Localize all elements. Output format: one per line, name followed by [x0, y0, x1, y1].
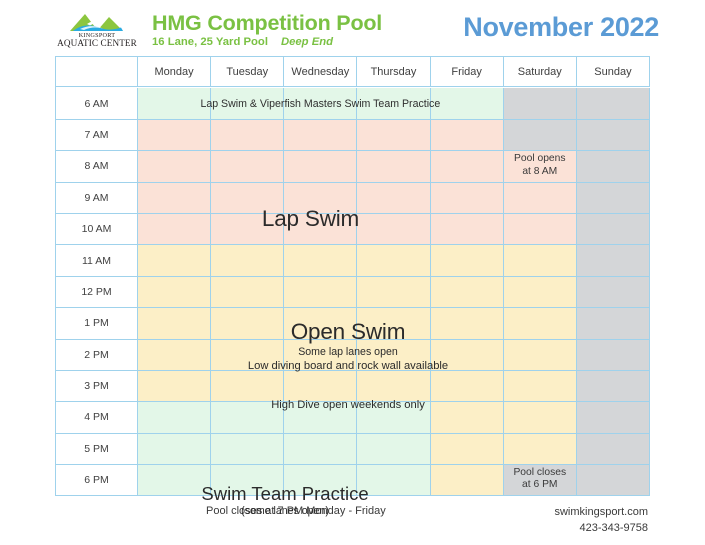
pool-spec-label: 16 Lane, 25 Yard Pool: [152, 36, 268, 48]
slot-wednesday-11am[interactable]: [284, 245, 357, 276]
slot-friday-2pm[interactable]: [431, 340, 504, 371]
slot-thursday-12pm[interactable]: [357, 277, 430, 308]
slot-tuesday-8am[interactable]: [211, 151, 284, 182]
slot-sunday-9am[interactable]: [577, 183, 650, 214]
slot-sunday-7am[interactable]: [577, 120, 650, 151]
early-lap-swim-title: Lap Swim & Viperfish Masters Swim Team P…: [200, 98, 440, 110]
slot-wednesday-6am[interactable]: Lap Swim & Viperfish Masters Swim Team P…: [284, 88, 357, 119]
time-label-12-pm: 12 PM: [56, 277, 138, 308]
brand-logo: KINGSPORT AQUATIC CENTER: [56, 11, 138, 49]
slot-tuesday-10am[interactable]: [211, 214, 284, 245]
time-label-9-am: 9 AM: [56, 183, 138, 214]
footer-website[interactable]: swimkingsport.com: [554, 505, 648, 521]
slot-wednesday-2pm[interactable]: [284, 340, 357, 371]
brand-logo-text: KINGSPORT AQUATIC CENTER: [57, 33, 137, 49]
schedule-grid: MondayTuesdayWednesdayThursdayFridaySatu…: [55, 56, 650, 496]
day-header-tuesday: Tuesday: [211, 57, 284, 87]
slot-thursday-11am[interactable]: [357, 245, 430, 276]
slot-friday-11am[interactable]: [431, 245, 504, 276]
slot-wednesday-6pm[interactable]: [284, 465, 357, 496]
slot-sunday-1pm[interactable]: [577, 308, 650, 339]
slot-tuesday-11am[interactable]: [211, 245, 284, 276]
slot-monday-6pm[interactable]: [138, 465, 211, 496]
slot-monday-9am[interactable]: [138, 183, 211, 214]
slot-wednesday-10am[interactable]: [284, 214, 357, 245]
slot-tuesday-9am[interactable]: [211, 183, 284, 214]
slot-saturday-8am[interactable]: Pool opensat 8 AM: [504, 151, 577, 182]
schedule-wrapper: MondayTuesdayWednesdayThursdayFridaySatu…: [0, 56, 705, 496]
slot-saturday-3pm[interactable]: [504, 371, 577, 402]
slot-thursday-3pm[interactable]: [357, 371, 430, 402]
slot-tuesday-1pm[interactable]: [211, 308, 284, 339]
slot-thursday-2pm[interactable]: [357, 340, 430, 371]
slot-tuesday-5pm[interactable]: [211, 434, 284, 465]
slot-monday-12pm[interactable]: [138, 277, 211, 308]
slot-saturday-12pm[interactable]: [504, 277, 577, 308]
slot-sunday-6pm[interactable]: [577, 465, 650, 496]
time-label-2-pm: 2 PM: [56, 340, 138, 371]
time-label-7-am: 7 AM: [56, 120, 138, 151]
day-header-wednesday: Wednesday: [284, 57, 357, 87]
page-footer: Pool closes at 7 PM Monday - Friday swim…: [0, 496, 705, 536]
mountain-water-logo-icon: [68, 11, 126, 33]
slot-saturday-2pm[interactable]: [504, 340, 577, 371]
month-title: November 2022: [463, 14, 659, 47]
slot-thursday-9am[interactable]: [357, 183, 430, 214]
time-label-5-pm: 5 PM: [56, 434, 138, 465]
page-subtitle: 16 Lane, 25 Yard PoolDeep End: [152, 36, 382, 49]
day-header-sunday: Sunday: [577, 57, 650, 87]
slot-thursday-7am[interactable]: [357, 120, 430, 151]
slot-wednesday-7am[interactable]: [284, 120, 357, 151]
time-label-10-am: 10 AM: [56, 214, 138, 245]
slot-sunday-4pm[interactable]: [577, 402, 650, 433]
slot-tuesday-3pm[interactable]: [211, 371, 284, 402]
slot-monday-10am[interactable]: [138, 214, 211, 245]
slot-wednesday-1pm[interactable]: [284, 308, 357, 339]
slot-saturday-7am[interactable]: [504, 120, 577, 151]
saturday-close-note-line2: at 6 PM: [507, 479, 573, 491]
slot-monday-11am[interactable]: [138, 245, 211, 276]
day-header-saturday: Saturday: [504, 57, 577, 87]
slot-friday-10am[interactable]: [431, 214, 504, 245]
time-label-6-am: 6 AM: [56, 88, 138, 119]
slot-sunday-8am[interactable]: [577, 151, 650, 182]
slot-sunday-3pm[interactable]: [577, 371, 650, 402]
slot-sunday-10am[interactable]: [577, 214, 650, 245]
slot-monday-8am[interactable]: [138, 151, 211, 182]
brand-logo-line2: AQUATIC CENTER: [57, 39, 137, 48]
slot-friday-8am[interactable]: [431, 151, 504, 182]
slot-thursday-5pm[interactable]: [357, 434, 430, 465]
slot-thursday-8am[interactable]: [357, 151, 430, 182]
day-header-monday: Monday: [138, 57, 211, 87]
slot-tuesday-4pm[interactable]: [211, 402, 284, 433]
slot-thursday-10am[interactable]: [357, 214, 430, 245]
slot-thursday-4pm[interactable]: [357, 402, 430, 433]
slot-friday-12pm[interactable]: [431, 277, 504, 308]
slot-tuesday-12pm[interactable]: [211, 277, 284, 308]
day-header-friday: Friday: [431, 57, 504, 87]
slot-saturday-5pm[interactable]: [504, 434, 577, 465]
slot-friday-9am[interactable]: [431, 183, 504, 214]
time-label-4-pm: 4 PM: [56, 402, 138, 433]
slot-sunday-6am[interactable]: [577, 88, 650, 119]
slot-monday-1pm[interactable]: [138, 308, 211, 339]
slot-thursday-6pm[interactable]: [357, 465, 430, 496]
slot-friday-6am[interactable]: [431, 88, 504, 119]
slot-saturday-6pm[interactable]: Pool closesat 6 PM: [504, 465, 577, 496]
slot-sunday-12pm[interactable]: [577, 277, 650, 308]
slot-tuesday-7am[interactable]: [211, 120, 284, 151]
slot-wednesday-8am[interactable]: [284, 151, 357, 182]
slot-saturday-6am[interactable]: [504, 88, 577, 119]
slot-monday-5pm[interactable]: [138, 434, 211, 465]
slot-monday-4pm[interactable]: [138, 402, 211, 433]
footer-phone[interactable]: 423-343-9758: [554, 521, 648, 537]
page-title: HMG Competition Pool: [152, 11, 382, 35]
deep-end-label: Deep End: [281, 36, 333, 48]
slot-wednesday-4pm[interactable]: [284, 402, 357, 433]
slot-wednesday-3pm[interactable]: [284, 371, 357, 402]
slot-monday-7am[interactable]: [138, 120, 211, 151]
slot-monday-2pm[interactable]: [138, 340, 211, 371]
slot-sunday-5pm[interactable]: [577, 434, 650, 465]
slot-friday-6pm[interactable]: [431, 465, 504, 496]
slot-monday-3pm[interactable]: [138, 371, 211, 402]
slot-friday-4pm[interactable]: [431, 402, 504, 433]
slot-saturday-11am[interactable]: [504, 245, 577, 276]
slot-saturday-10am[interactable]: [504, 214, 577, 245]
saturday-close-note-line1: Pool closes: [507, 467, 573, 479]
slot-thursday-1pm[interactable]: [357, 308, 430, 339]
time-label-1-pm: 1 PM: [56, 308, 138, 339]
slot-saturday-9am[interactable]: [504, 183, 577, 214]
slot-wednesday-12pm[interactable]: [284, 277, 357, 308]
day-header-thursday: Thursday: [357, 57, 430, 87]
header-title-block: HMG Competition Pool 16 Lane, 25 Yard Po…: [152, 11, 382, 48]
slot-friday-5pm[interactable]: [431, 434, 504, 465]
slot-friday-7am[interactable]: [431, 120, 504, 151]
slot-tuesday-2pm[interactable]: [211, 340, 284, 371]
slot-sunday-2pm[interactable]: [577, 340, 650, 371]
page-header: KINGSPORT AQUATIC CENTER HMG Competition…: [0, 0, 705, 56]
grid-corner-cell: [56, 57, 138, 87]
slot-friday-1pm[interactable]: [431, 308, 504, 339]
slot-sunday-11am[interactable]: [577, 245, 650, 276]
saturday-open-note-line1: Pool opens: [507, 153, 573, 165]
time-label-11-am: 11 AM: [56, 245, 138, 276]
slot-tuesday-6pm[interactable]: [211, 465, 284, 496]
time-label-8-am: 8 AM: [56, 151, 138, 182]
time-label-6-pm: 6 PM: [56, 465, 138, 496]
footer-contact: swimkingsport.com 423-343-9758: [554, 505, 648, 536]
slot-saturday-4pm[interactable]: [504, 402, 577, 433]
slot-friday-3pm[interactable]: [431, 371, 504, 402]
slot-wednesday-9am[interactable]: [284, 183, 357, 214]
slot-saturday-1pm[interactable]: [504, 308, 577, 339]
footer-closing-note: Pool closes at 7 PM Monday - Friday: [206, 505, 386, 517]
time-label-3-pm: 3 PM: [56, 371, 138, 402]
slot-wednesday-5pm[interactable]: [284, 434, 357, 465]
saturday-open-note-line2: at 8 AM: [507, 166, 573, 178]
